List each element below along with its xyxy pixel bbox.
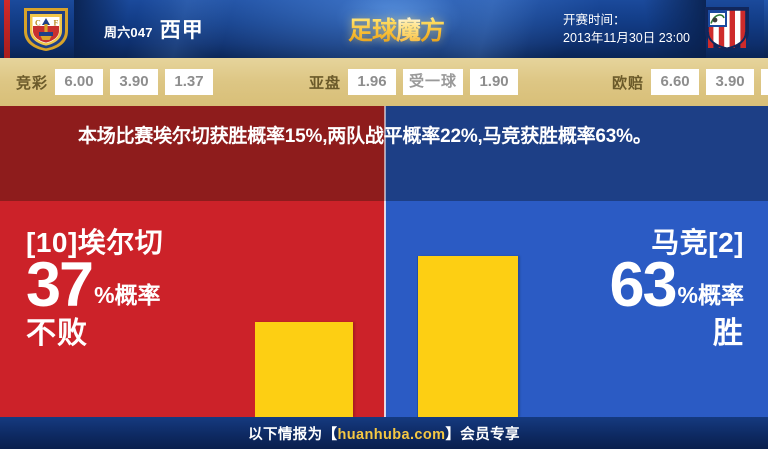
logo-part-3: 方 bbox=[420, 17, 444, 45]
home-percent-suffix: %概率 bbox=[94, 284, 160, 315]
odds-group-european: 欧赔 6.60 3.90 1.51 bbox=[612, 69, 768, 95]
atletico-madrid-crest bbox=[702, 5, 752, 53]
home-probability-bar bbox=[255, 322, 353, 417]
membership-notice-suffix: 】会员专享 bbox=[445, 427, 520, 443]
logo-part-2: 魔 bbox=[396, 17, 420, 45]
away-probability-bar bbox=[418, 256, 518, 417]
handicap-value-home[interactable]: 1.96 bbox=[348, 69, 396, 95]
kickoff-time-label: 开赛时间： bbox=[563, 11, 690, 29]
brand-domain-link[interactable]: huanhuba.com bbox=[337, 427, 445, 443]
handicap-line-label[interactable]: 受一球 bbox=[403, 69, 463, 95]
membership-notice: 以下情报为【huanhuba.com】会员专享 bbox=[248, 423, 520, 444]
odds-value-home[interactable]: 6.00 bbox=[55, 69, 103, 95]
away-percent-value: 63 bbox=[609, 256, 675, 315]
kickoff-time-value: 2013年11月30日 23:00 bbox=[563, 29, 690, 47]
odds-group-title: 欧赔 bbox=[612, 72, 644, 93]
handicap-value-away[interactable]: 1.90 bbox=[470, 69, 518, 95]
membership-notice-prefix: 以下情报为【 bbox=[248, 427, 337, 443]
home-outcome-label: 不败 bbox=[26, 319, 163, 349]
match-title: 周六047 西甲 bbox=[104, 14, 204, 44]
odds-value-draw[interactable]: 3.90 bbox=[110, 69, 158, 95]
probability-summary-text: 本场比赛埃尔切获胜概率15%,两队战平概率22%,马竞获胜概率63%。 bbox=[78, 122, 718, 153]
svg-text:C: C bbox=[35, 19, 41, 28]
match-round-label: 周六047 bbox=[104, 22, 153, 41]
home-percent-line: 37 %概率 bbox=[26, 256, 163, 315]
odds-group-title: 亚盘 bbox=[309, 72, 341, 93]
elche-cf-crest: C F bbox=[20, 5, 72, 53]
match-preview-infographic: C F 周六047 西甲 足球魔方 开赛时间： 2013年11月30日 23:0… bbox=[0, 0, 768, 449]
league-name-label: 西甲 bbox=[160, 14, 204, 44]
header-left-red-strip bbox=[4, 0, 10, 58]
euro-odds-home[interactable]: 6.60 bbox=[651, 69, 699, 95]
away-outcome-label: 胜 bbox=[609, 319, 744, 349]
kickoff-time-block: 开赛时间： 2013年11月30日 23:00 bbox=[563, 11, 690, 47]
site-logo-text: 足球魔方 bbox=[348, 11, 444, 47]
header-bar: C F 周六047 西甲 足球魔方 开赛时间： 2013年11月30日 23:0… bbox=[0, 0, 768, 58]
away-percent-line: 63 %概率 bbox=[609, 256, 744, 315]
header-right-edge bbox=[764, 0, 768, 58]
away-team-stats: 马竞[2] 63 %概率 胜 bbox=[609, 229, 744, 349]
site-logo[interactable]: 足球魔方 bbox=[322, 0, 470, 58]
away-percent-suffix: %概率 bbox=[678, 284, 744, 315]
logo-part-1: 足球 bbox=[348, 17, 396, 45]
euro-odds-away[interactable]: 1.51 bbox=[761, 69, 768, 95]
euro-odds-draw[interactable]: 3.90 bbox=[706, 69, 754, 95]
odds-value-away[interactable]: 1.37 bbox=[165, 69, 213, 95]
svg-text:F: F bbox=[54, 19, 59, 28]
odds-group-title: 竞彩 bbox=[16, 72, 48, 93]
odds-bar: 竞彩 6.00 3.90 1.37 亚盘 1.96 受一球 1.90 欧赔 6.… bbox=[0, 58, 768, 106]
banner-background-left bbox=[0, 106, 385, 201]
panel-divider bbox=[384, 201, 386, 417]
odds-group-jingcai: 竞彩 6.00 3.90 1.37 bbox=[16, 69, 213, 95]
footer-bar: 以下情报为【huanhuba.com】会员专享 bbox=[0, 417, 768, 449]
home-percent-value: 37 bbox=[26, 256, 92, 315]
odds-group-asian-handicap: 亚盘 1.96 受一球 1.90 bbox=[309, 69, 518, 95]
home-team-stats: [10]埃尔切 37 %概率 不败 bbox=[26, 229, 163, 349]
banner-background-right bbox=[385, 106, 768, 201]
banner-divider bbox=[384, 106, 386, 201]
probability-summary-banner: 本场比赛埃尔切获胜概率15%,两队战平概率22%,马竞获胜概率63%。 bbox=[0, 106, 768, 201]
probability-panels: [10]埃尔切 37 %概率 不败 马竞[2] 63 %概率 胜 bbox=[0, 201, 768, 417]
